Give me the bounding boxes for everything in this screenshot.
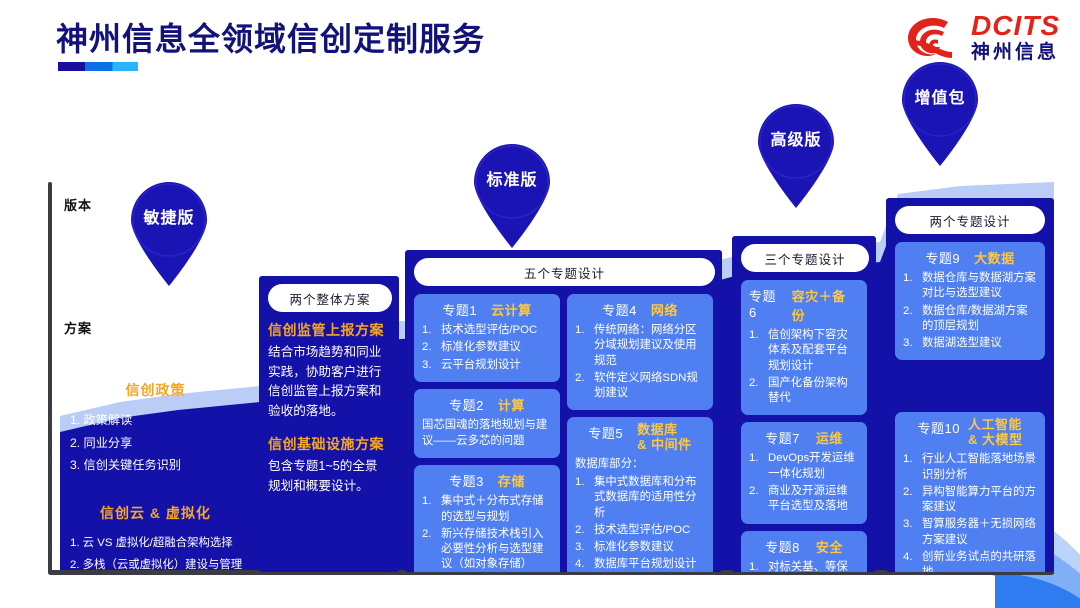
topic-tag-line2: & 中间件 [637,437,692,452]
topic-list: 传统网络：网络分区分域规划建议及使用规范 软件定义网络SDN规划建议 [575,323,705,401]
list-item: 创新业务试点的共研落地 [903,550,1037,572]
list-item: 数据湖选型建议 [903,336,1037,351]
pin-label: 敏捷版 [125,204,213,228]
list-item: 标准化参数建议 [575,540,705,555]
axis-label-version: 版本 [64,195,92,214]
pill-three-topic-design: 三个专题设计 [741,244,869,272]
list-item: 传统网络：网络分区分域规划建议及使用规范 [575,323,705,369]
section-title-policy: 信创政策 [70,380,241,400]
column-agile: 信创政策 1. 政策解读 2. 同业分享 3. 信创关键任务识别 信创云 & 虚… [62,272,249,572]
topic-tag: 大数据 [974,248,1015,267]
pin-marker-valueadd[interactable]: 增值包 [896,58,984,166]
page-title: 神州信息全领域信创定制服务 [56,14,485,60]
list-item: 云平台规划设计 [422,358,552,373]
map-pin-icon [125,178,213,286]
topic-tag: 人工智能 & 大模型 [968,418,1023,448]
topic-number: 专题3 [449,471,484,490]
map-pin-icon [752,100,840,208]
topic-lead-database: 数据库部分： [575,457,705,473]
topic-list: DevOps开发运维一体化规划 商业及开源运维平台选型及落地 [749,451,859,514]
section-list-policy: 1. 政策解读 2. 同业分享 3. 信创关键任务识别 [70,409,241,477]
topic-list: 技术选型评估/POC 标准化参数建议 云平台规划设计 [422,323,552,373]
topic-card-3[interactable]: 专题3 存储 集中式＋分布式存储的选型与规划 新兴存储技术栈引入必要性分析与选型… [414,465,560,572]
pin-marker-agile[interactable]: 敏捷版 [125,178,213,286]
topic-tag-line2: & 大模型 [968,432,1023,447]
topic-card-2[interactable]: 专题2 计算 国芯国魂的落地规划与建议——云多芯的问题 [414,389,560,458]
topic-tag-line1: 数据库 [637,422,678,437]
column-overall-plans: 两个整体方案 信创监管上报方案 结合市场趋势和同业实践，协助客户进行信创监管上报… [259,276,399,572]
topic-number: 专题1 [442,300,477,319]
topic-number: 专题10 [918,418,960,437]
topic-card-4[interactable]: 专题4 网络 传统网络：网络分区分域规划建议及使用规范 软件定义网络SDN规划建… [567,294,713,410]
topic-tag: 数据库 & 中间件 [637,423,692,453]
logo-chinese-text: 神州信息 [971,42,1060,64]
block-body-supervision: 结合市场趋势和同业实践，协助客户进行信创监管上报方案和验收的落地。 [268,343,390,421]
five-topics-right: 专题4 网络 传统网络：网络分区分域规划建议及使用规范 软件定义网络SDN规划建… [567,294,713,572]
topic-list: 集中式＋分布式存储的选型与规划 新兴存储技术栈引入必要性分析与选型建议（如对象存… [422,494,552,572]
topic-tag: 容灾＋备份 [792,286,859,324]
pill-two-topic-design: 两个专题设计 [895,206,1045,234]
pin-label: 高级版 [752,126,840,150]
list-item: 3. 信创关键任务识别 [70,454,241,477]
list-item: 技术选型评估/POC [575,523,705,538]
topic-tag: 运维 [816,428,843,447]
topic-tag: 存储 [498,471,525,490]
list-item: 2. 同业分享 [70,432,241,455]
topic-card-1[interactable]: 专题1 云计算 技术选型评估/POC 标准化参数建议 云平台规划设计 [414,294,560,382]
list-item: 标准化参数建议 [422,340,552,355]
topic-card-5[interactable]: 专题5 数据库 & 中间件 数据库部分： 集中式数据库和分布式数据库的适用性分析… [567,417,713,572]
topic-card-8[interactable]: 专题8 安全 对标关基、等保合规要求的安全加固方案 云原生基础架构一体化安全防护… [741,531,867,572]
section-list-cloud: 1. 云 VS 虚拟化/超融合架构选择 2. 多栈（云或虚拟化）建设与管理 3.… [70,532,241,572]
list-item: 商业及开源运维平台选型及落地 [749,484,859,515]
list-item: 数据库平台规划设计（部署模式建议 DBaaS／云上PaaS） [575,557,705,572]
topic-number: 专题2 [449,395,484,414]
topic-tag-line1: 人工智能 [968,417,1022,432]
list-item: 技术选型评估/POC [422,323,552,338]
list-item: DevOps开发运维一体化规划 [749,451,859,482]
list-item: 1. 云 VS 虚拟化/超融合架构选择 [70,532,241,554]
list-item: 数据仓库/数据湖方案的顶层规划 [903,304,1037,335]
block-head-supervision: 信创监管上报方案 [268,320,390,340]
topic-card-6[interactable]: 专题6 容灾＋备份 信创架构下容灾体系及配套平台规划设计 国产化备份架构替代 [741,280,867,415]
five-topics-left: 专题1 云计算 技术选型评估/POC 标准化参数建议 云平台规划设计 专题2 计… [414,294,560,572]
logo-latin-text: DCITS [971,12,1060,40]
title-underline-rule [58,62,138,71]
pin-label: 标准版 [468,166,556,190]
map-pin-icon [896,58,984,166]
topic-number: 专题9 [925,248,960,267]
topic-card-9[interactable]: 专题9 大数据 数据仓库与数据湖方案对比与选型建议 数据仓库/数据湖方案的顶层规… [895,242,1045,360]
section-title-cloud: 信创云 & 虚拟化 [70,503,241,523]
list-item: 信创架构下容灾体系及配套平台规划设计 [749,328,859,374]
list-item: 2. 多栈（云或虚拟化）建设与管理 [70,554,241,572]
topic-list: 信创架构下容灾体系及配套平台规划设计 国产化备份架构替代 [749,328,859,406]
list-item: 异构智能算力平台的方案建议 [903,485,1037,516]
list-item: 智算服务器＋无损网络方案建议 [903,517,1037,548]
pill-two-overall-plans: 两个整体方案 [268,284,392,312]
logo-wordmark: DCITS 神州信息 [971,12,1060,64]
topic-list: 行业人工智能落地场景识别分析 异构智能算力平台的方案建议 智算服务器＋无损网络方… [903,452,1037,572]
topic-number: 专题5 [588,423,623,442]
topic-tag: 网络 [651,300,678,319]
topic-number: 专题8 [765,537,800,556]
list-item: 国产化备份架构替代 [749,376,859,407]
list-item: 对标关基、等保合规要求的安全加固方案 [749,560,859,572]
list-item: 新兴存储技术栈引入必要性分析与选型建议（如对象存储） [422,527,552,572]
list-item: 集中式数据库和分布式数据库的适用性分析 [575,475,705,521]
pin-label: 增值包 [896,84,984,108]
slide-canvas: 神州信息全领域信创定制服务 DCITS 神州信息 版本 方案 敏捷版 [0,0,1080,608]
topic-number: 专题7 [765,428,800,447]
column-two-topics: 两个专题设计 专题9 大数据 数据仓库与数据湖方案对比与选型建议 数据仓库/数据… [886,198,1054,572]
axis-vertical [48,182,52,574]
topic-text: 国芯国魂的落地规划与建议——云多芯的问题 [422,418,552,449]
pill-five-topic-design: 五个专题设计 [414,258,715,286]
list-item: 集中式＋分布式存储的选型与规划 [422,494,552,525]
topic-tag: 计算 [498,395,525,414]
block-head-infrastructure: 信创基础设施方案 [268,434,390,454]
pin-marker-standard[interactable]: 标准版 [468,140,556,248]
topic-card-10[interactable]: 专题10 人工智能 & 大模型 行业人工智能落地场景识别分析 异构智能算力平台的… [895,412,1045,572]
list-item: 1. 政策解读 [70,409,241,432]
list-item: 行业人工智能落地场景识别分析 [903,452,1037,483]
topic-number: 专题6 [749,286,784,320]
topic-tag: 安全 [816,537,843,556]
block-body-infrastructure: 包含专题1~5的全景规划和概要设计。 [268,457,390,496]
pin-marker-advanced[interactable]: 高级版 [752,100,840,208]
list-item: 数据仓库与数据湖方案对比与选型建议 [903,271,1037,302]
topic-list: 集中式数据库和分布式数据库的适用性分析 技术选型评估/POC 标准化参数建议 数… [575,475,705,572]
column-five-topics: 五个专题设计 专题1 云计算 技术选型评估/POC 标准化参数建议 云平台规划设… [405,250,722,572]
topic-card-7[interactable]: 专题7 运维 DevOps开发运维一体化规划 商业及开源运维平台选型及落地 [741,422,867,523]
list-item: 软件定义网络SDN规划建议 [575,371,705,402]
topic-list: 对标关基、等保合规要求的安全加固方案 云原生基础架构一体化安全防护建设方案 [749,560,859,572]
map-pin-icon [468,140,556,248]
column-three-topics: 三个专题设计 专题6 容灾＋备份 信创架构下容灾体系及配套平台规划设计 国产化备… [732,236,876,572]
topic-number: 专题4 [602,300,637,319]
topic-list: 数据仓库与数据湖方案对比与选型建议 数据仓库/数据湖方案的顶层规划 数据湖选型建… [903,271,1037,351]
topic-tag: 云计算 [491,300,532,319]
